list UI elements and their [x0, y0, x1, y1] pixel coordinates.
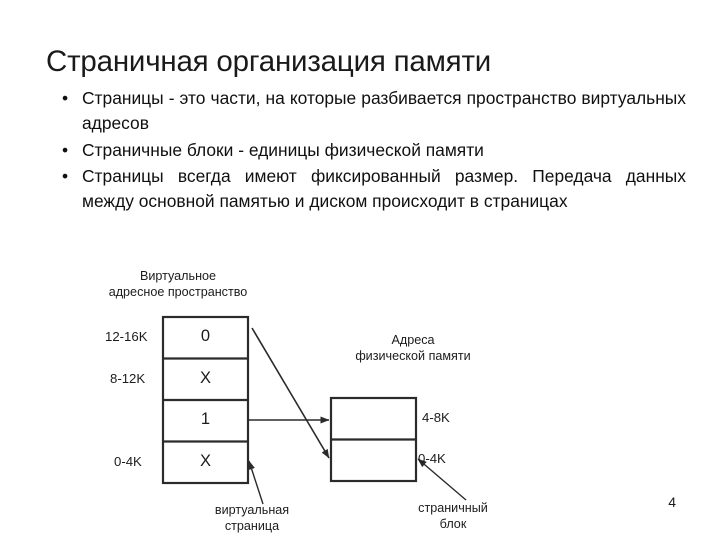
bullet-marker-icon: • [62, 164, 68, 189]
bullet-marker-icon: • [62, 138, 68, 163]
physical-row-address-0: 4-8K [422, 410, 450, 425]
virtual-row-address-0: 12-16K [105, 329, 148, 344]
page-frame-callout-line2: блок [398, 516, 508, 532]
virtual-cell-value-3: X [163, 452, 248, 470]
list-item: • Страничные блоки - единицы физической … [56, 138, 686, 163]
page-title: Страничная организация памяти [46, 44, 686, 80]
list-item-text: Страничные блоки - единицы физической па… [82, 138, 686, 163]
virtual-space-caption-line1: Виртуальное [78, 268, 278, 284]
bullet-marker-icon: • [62, 86, 68, 111]
page-frame-callout: страничный блок [398, 500, 508, 532]
list-item-text: Страницы - это части, на которые разбива… [82, 86, 686, 137]
physical-memory-caption-line2: физической памяти [318, 348, 508, 364]
physical-memory-caption-line1: Адреса [318, 332, 508, 348]
list-item-text: Страницы всегда имеют фиксированный разм… [82, 164, 686, 215]
physical-row-address-1: 0-4K [418, 451, 446, 466]
virtual-cell-value-0: 0 [163, 327, 248, 345]
virtual-page-callout-line2: страница [192, 518, 312, 534]
list-item: • Страницы - это части, на которые разби… [56, 86, 686, 137]
virtual-space-caption: Виртуальное адресное пространство [78, 268, 278, 300]
virtual-page-callout-line1: виртуальная [192, 502, 312, 518]
physical-memory-table [331, 398, 416, 481]
page-frame-callout-line1: страничный [398, 500, 508, 516]
list-item: • Страницы всегда имеют фиксированный ра… [56, 164, 686, 215]
virtual-cell-value-2: 1 [163, 410, 248, 428]
physical-memory-caption: Адреса физической памяти [318, 332, 508, 364]
slide-canvas: Страничная организация памяти • Страницы… [0, 0, 720, 540]
virtual-row-address-1: 8-12K [110, 371, 145, 386]
virtual-space-caption-line2: адресное пространство [78, 284, 278, 300]
callout-leader-virtual-page [249, 461, 263, 504]
virtual-row-address-3: 0-4K [114, 454, 142, 469]
virtual-cell-value-1: X [163, 369, 248, 387]
page-number: 4 [668, 494, 676, 510]
virtual-page-callout: виртуальная страница [192, 502, 312, 534]
bullet-list: • Страницы - это части, на которые разби… [56, 86, 686, 215]
